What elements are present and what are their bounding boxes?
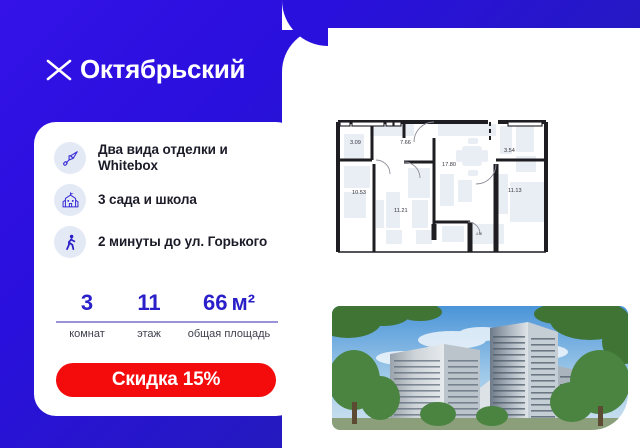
room-area-label: 3.09 (350, 140, 361, 146)
feature-label: 3 сада и школа (98, 192, 197, 208)
stats-labels: комнат этаж общая площадь (56, 323, 278, 341)
trowel-icon (54, 142, 86, 174)
room-area-label: 11.21 (394, 208, 408, 214)
room-area-label: 10.53 (352, 190, 366, 196)
stat-label-rooms: комнат (56, 328, 118, 341)
feature-item-schools: 3 сада и школа (54, 184, 284, 216)
x-mark-icon (46, 57, 72, 83)
stat-area-unit: м² (231, 290, 255, 315)
stat-value-rooms: 3 (56, 290, 118, 316)
brand-name: Октябрьский (80, 54, 245, 85)
stat-label-floor: этаж (118, 328, 180, 341)
feature-list: Два вида отделки и Whitebox 3 сад (54, 142, 284, 268)
walking-person-icon (54, 226, 86, 258)
stat-area-number: 66 (203, 290, 227, 315)
feature-item-walking-distance: 2 минуты до ул. Горького (54, 226, 284, 258)
feature-item-finishing: Два вида отделки и Whitebox (54, 142, 284, 174)
floor-plan[interactable]: 3.09 7.66 17.80 3.54 10.53 11.21 11.13 4… (330, 104, 572, 269)
room-area-label: 11.13 (508, 188, 522, 194)
stat-label-area: общая площадь (180, 328, 278, 341)
brand-logo[interactable]: Октябрьский (46, 54, 245, 85)
feature-label: Два вида отделки и Whitebox (98, 142, 284, 174)
room-area-label: 17.80 (442, 162, 456, 168)
stat-value-area: 66м² (180, 290, 278, 316)
stats-values: 3 11 66м² (56, 290, 278, 321)
school-building-icon (54, 184, 86, 216)
promo-card: Октябрьский Два вида отделки и Whitebox (0, 0, 640, 448)
feature-label: 2 минуты до ул. Горького (98, 234, 267, 250)
room-area-label: 4.30 (476, 232, 482, 236)
room-area-label: 7.66 (400, 140, 411, 146)
building-photo[interactable] (332, 306, 628, 430)
stats-block: 3 11 66м² комнат этаж общая площадь (56, 290, 278, 341)
room-area-label: 3.54 (504, 148, 515, 154)
stat-value-floor: 11 (118, 290, 180, 316)
discount-button[interactable]: Скидка 15% (56, 363, 276, 397)
panel-corner-notch (282, 0, 328, 30)
info-card: Два вида отделки и Whitebox 3 сад (34, 122, 298, 416)
